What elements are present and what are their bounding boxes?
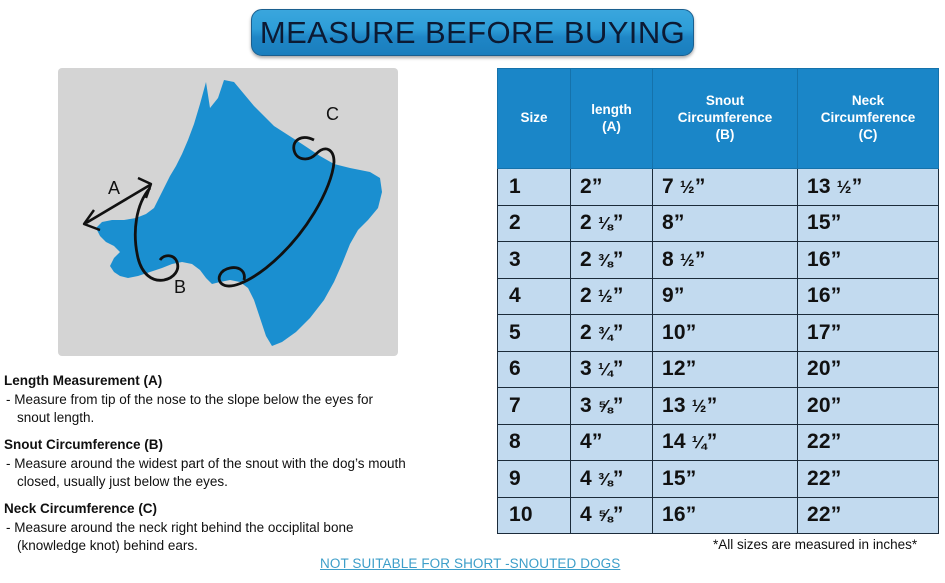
cell-length: 2 ¾” [571,315,653,352]
table-row: 84”14 ¼”22” [498,424,939,461]
cell-size: 10 [498,497,571,534]
cell-neck: 17” [798,315,939,352]
cell-size: 2 [498,205,571,242]
column-header-size: Size [498,69,571,169]
table-row: 12”7 ½”13 ½” [498,169,939,206]
label-a: A [108,178,120,198]
instruction-body-neck: - Measure around the neck right behind t… [4,519,490,555]
fraction: ½ [598,286,613,306]
instruction-block-length: Length Measurement (A) - Measure from ti… [4,372,490,427]
fraction: ½ [837,177,852,197]
table-header-row: Size length (A) Snout Circumference (B) … [498,69,939,169]
cell-size: 5 [498,315,571,352]
cell-length: 3 ¼” [571,351,653,388]
header-line: Snout [656,93,794,110]
cell-length: 4” [571,424,653,461]
fraction: ¼ [692,432,707,452]
size-chart-container: Size length (A) Snout Circumference (B) … [497,68,938,534]
cell-size: 4 [498,278,571,315]
table-row: 42 ½”9”16” [498,278,939,315]
table-row: 32 ⅜”8 ½”16” [498,242,939,279]
instruction-line: (knowledge knot) behind ears. [6,537,490,555]
cell-length: 2” [571,169,653,206]
instruction-line: - Measure around the neck right behind t… [6,520,353,535]
column-header-snout-circumference: Snout Circumference (B) [653,69,798,169]
cell-snout: 13 ½” [653,388,798,425]
cell-neck: 13 ½” [798,169,939,206]
instruction-line: - Measure from tip of the nose to the sl… [6,392,373,407]
header-line: Circumference [656,110,794,127]
short-snout-warning[interactable]: NOT SUITABLE FOR SHORT -SNOUTED DOGS [320,556,620,571]
cell-snout: 8” [653,205,798,242]
cell-snout: 10” [653,315,798,352]
dog-head-diagram: A B C [58,68,398,356]
instruction-heading-neck: Neck Circumference (C) [4,500,490,518]
cell-length: 4 ⅝” [571,497,653,534]
cell-size: 9 [498,461,571,498]
instruction-heading-length: Length Measurement (A) [4,372,490,390]
cell-length: 4 ⅜” [571,461,653,498]
instruction-line: closed, usually just below the eyes. [6,473,490,491]
fraction: ¼ [598,359,613,379]
cell-neck: 20” [798,351,939,388]
cell-length: 2 ⅛” [571,205,653,242]
fraction: ½ [680,177,695,197]
fraction: ⅛ [598,213,613,233]
instruction-body-length: - Measure from tip of the nose to the sl… [4,391,490,427]
table-header: Size length (A) Snout Circumference (B) … [498,69,939,169]
cell-neck: 16” [798,242,939,279]
cell-size: 6 [498,351,571,388]
measurement-instructions: Length Measurement (A) - Measure from ti… [4,372,490,564]
label-c: C [326,104,339,124]
instruction-line: snout length. [6,409,490,427]
header-line: length [574,102,649,119]
table-row: 22 ⅛”8”15” [498,205,939,242]
cell-length: 2 ⅜” [571,242,653,279]
fraction: ⅜ [598,469,613,489]
dog-measurement-illustration: A B C [58,68,398,356]
cell-size: 1 [498,169,571,206]
instruction-block-neck: Neck Circumference (C) - Measure around … [4,500,490,555]
fraction: ½ [680,250,695,270]
cell-neck: 16” [798,278,939,315]
cell-snout: 15” [653,461,798,498]
cell-size: 8 [498,424,571,461]
label-b: B [174,277,186,297]
cell-snout: 14 ¼” [653,424,798,461]
cell-snout: 9” [653,278,798,315]
cell-size: 7 [498,388,571,425]
table-row: 104 ⅝”16”22” [498,497,939,534]
header-line: Neck [801,93,935,110]
instruction-body-snout: - Measure around the widest part of the … [4,455,490,491]
cell-neck: 22” [798,424,939,461]
cell-snout: 12” [653,351,798,388]
column-header-neck-circumference: Neck Circumference (C) [798,69,939,169]
fraction: ½ [692,396,707,416]
table-body: 12”7 ½”13 ½”22 ⅛”8”15”32 ⅜”8 ½”16”42 ½”9… [498,169,939,534]
cell-snout: 16” [653,497,798,534]
table-row: 63 ¼”12”20” [498,351,939,388]
cell-snout: 7 ½” [653,169,798,206]
instruction-heading-snout: Snout Circumference (B) [4,436,490,454]
table-footnote: *All sizes are measured in inches* [713,537,917,552]
header-line: Size [501,110,567,127]
header-line: (C) [801,127,935,144]
table-row: 52 ¾”10”17” [498,315,939,352]
size-chart-table: Size length (A) Snout Circumference (B) … [497,68,939,534]
fraction: ⅝ [598,396,613,416]
cell-snout: 8 ½” [653,242,798,279]
cell-length: 2 ½” [571,278,653,315]
cell-neck: 22” [798,497,939,534]
cell-length: 3 ⅝” [571,388,653,425]
instruction-line: - Measure around the widest part of the … [6,456,406,471]
header-line: (B) [656,127,794,144]
table-row: 94 ⅜”15”22” [498,461,939,498]
page-title-banner: MEASURE BEFORE BUYING [251,9,694,56]
instruction-block-snout: Snout Circumference (B) - Measure around… [4,436,490,491]
cell-neck: 15” [798,205,939,242]
header-line: (A) [574,119,649,136]
table-row: 73 ⅝”13 ½”20” [498,388,939,425]
cell-size: 3 [498,242,571,279]
cell-neck: 20” [798,388,939,425]
fraction: ⅜ [598,250,613,270]
fraction: ⅝ [598,505,613,525]
page-title: MEASURE BEFORE BUYING [260,17,685,48]
header-line: Circumference [801,110,935,127]
cell-neck: 22” [798,461,939,498]
column-header-length: length (A) [571,69,653,169]
fraction: ¾ [598,323,613,343]
